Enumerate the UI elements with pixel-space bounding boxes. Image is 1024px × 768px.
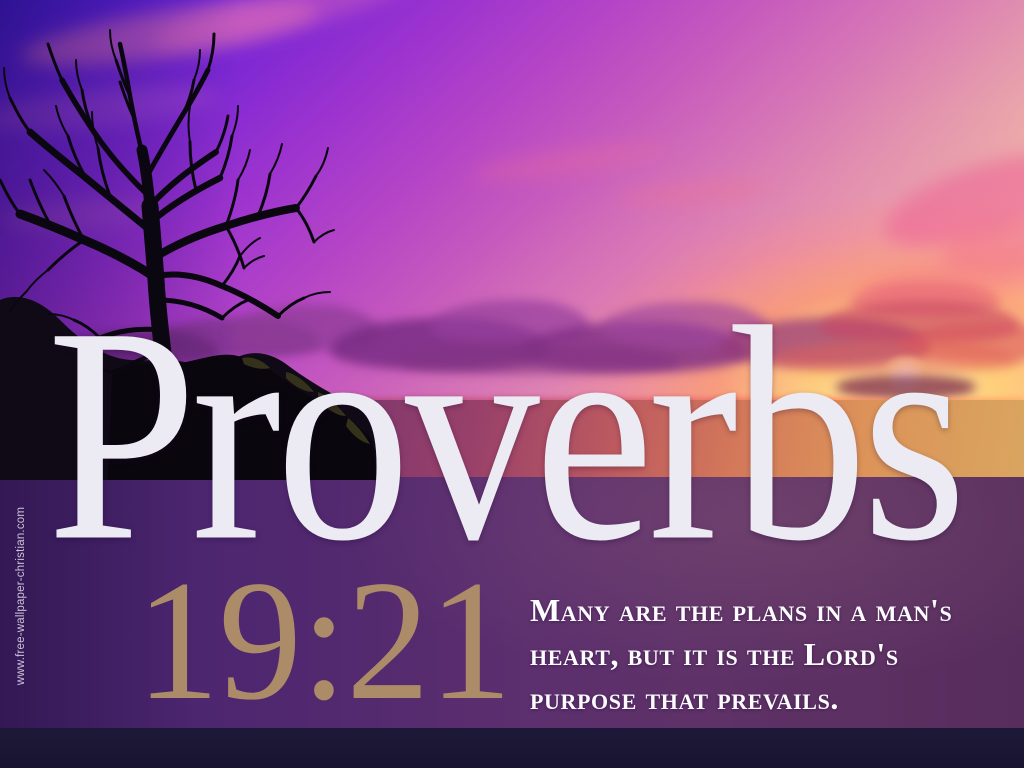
verse-text: Many are the plans in a man's heart, but… — [530, 588, 980, 720]
cloud-wisp — [619, 177, 770, 210]
page-title: Proverbs — [47, 281, 961, 588]
wallpaper-canvas: Proverbs 19:21 Many are the plans in a m… — [0, 0, 1024, 768]
watermark-url: www.free-wallpaper-christian.com — [15, 496, 27, 696]
cloud-wisp — [469, 136, 670, 188]
verse-reference: 19:21 — [136, 555, 511, 727]
